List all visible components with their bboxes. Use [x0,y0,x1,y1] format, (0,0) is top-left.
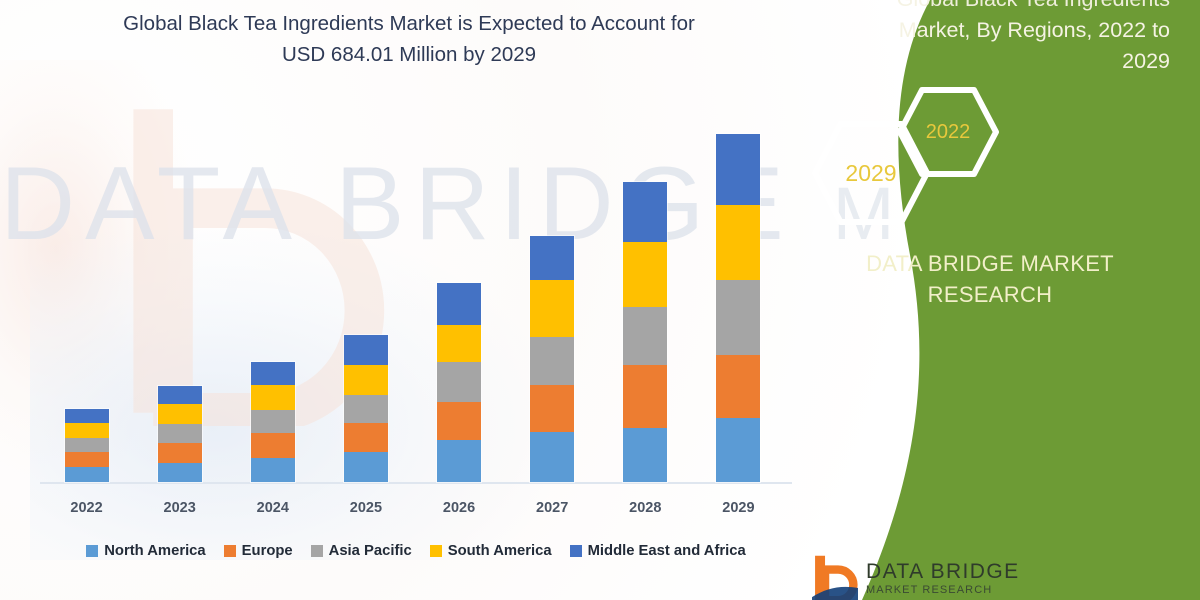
bar-segment[interactable] [158,424,202,443]
bar-segment[interactable] [344,395,388,423]
bar-segment[interactable] [623,182,667,242]
bar-segment[interactable] [251,433,295,458]
x-tick-2029: 2029 [716,500,760,516]
page-title-line2: USD 684.01 Million by 2029 [34,39,784,70]
page-title: Global Black Tea Ingredients Market is E… [34,8,784,70]
chart-baseline [40,482,792,484]
x-tick-2028: 2028 [623,500,667,516]
bar-segment[interactable] [158,463,202,482]
bar-column-2024[interactable] [251,362,295,482]
bar-column-2029[interactable] [716,134,760,482]
bar-column-2028[interactable] [623,182,667,482]
bar-segment[interactable] [530,337,574,385]
bar-column-2027[interactable] [530,236,574,482]
bar-segment[interactable] [716,355,760,418]
bar-segment[interactable] [530,236,574,280]
bar-segment[interactable] [344,365,388,395]
x-tick-2026: 2026 [437,500,481,516]
bar-segment[interactable] [716,134,760,205]
hexagon-front-label: 2022 [896,86,1000,178]
bar-segment[interactable] [716,280,760,355]
legend-swatch-icon [311,545,323,557]
legend-swatch-icon [86,545,98,557]
chart-region: Global Black Tea Ingredients Market is E… [0,0,830,600]
bar-segment[interactable] [623,428,667,482]
bar-segment[interactable] [344,423,388,452]
legend-swatch-icon [570,545,582,557]
panel-brand-line2: RESEARCH [790,279,1190,310]
panel-title-clipped-line: Global Black Tea Ingredients [840,0,1170,15]
data-bridge-logo: DATA BRIDGE MARKET RESEARCH [800,556,1200,600]
legend-label: Asia Pacific [329,543,412,559]
bar-segment[interactable] [65,409,109,423]
hexagon-badge-front: 2022 [896,86,1000,178]
data-bridge-logo-tagline: MARKET RESEARCH [866,584,992,596]
panel-title-line2: 2029 [840,46,1170,77]
x-tick-2027: 2027 [530,500,574,516]
bar-segment[interactable] [65,467,109,482]
legend-item[interactable]: North America [86,543,205,559]
bar-segment[interactable] [623,307,667,365]
legend-swatch-icon [224,545,236,557]
data-bridge-logo-name: DATA BRIDGE [866,560,1019,583]
bar-segment[interactable] [623,242,667,307]
x-tick-2024: 2024 [251,500,295,516]
chart-legend: North AmericaEuropeAsia PacificSouth Ame… [46,538,786,564]
legend-item[interactable]: South America [430,543,552,559]
x-tick-2022: 2022 [65,500,109,516]
bar-group [40,100,785,482]
bar-column-2025[interactable] [344,335,388,482]
green-panel-content: Global Black Tea Ingredients Market, By … [780,0,1200,600]
bar-segment[interactable] [437,362,481,402]
legend-label: North America [104,543,205,559]
bar-segment[interactable] [530,280,574,337]
legend-item[interactable]: Asia Pacific [311,543,412,559]
bar-segment[interactable] [344,335,388,365]
bar-segment[interactable] [251,362,295,385]
x-axis-tick-labels: 20222023202420252026202720282029 [40,495,785,521]
bar-segment[interactable] [158,404,202,424]
bar-segment[interactable] [623,365,667,428]
bar-segment[interactable] [65,452,109,467]
bar-segment[interactable] [251,385,295,410]
plot-area [40,100,785,482]
bar-segment[interactable] [344,452,388,482]
x-tick-2023: 2023 [158,500,202,516]
data-bridge-logo-icon [812,554,858,600]
bar-segment[interactable] [437,325,481,362]
page-title-line1: Global Black Tea Ingredients Market is E… [34,8,784,39]
panel-brand-text: DATA BRIDGE MARKET RESEARCH [790,248,1190,310]
hexagon-badges: 2029 2022 [810,86,1050,226]
bar-segment[interactable] [65,423,109,438]
bar-segment[interactable] [158,443,202,463]
bar-segment[interactable] [716,205,760,280]
bar-column-2022[interactable] [65,409,109,482]
bar-segment[interactable] [251,410,295,433]
bar-segment[interactable] [158,386,202,404]
legend-label: South America [448,543,552,559]
bar-segment[interactable] [437,440,481,482]
legend-label: Middle East and Africa [588,543,746,559]
bar-segment[interactable] [437,402,481,440]
bar-segment[interactable] [530,385,574,432]
panel-title: Global Black Tea Ingredients Market, By … [840,0,1170,77]
bar-segment[interactable] [716,418,760,482]
x-tick-2025: 2025 [344,500,388,516]
legend-item[interactable]: Middle East and Africa [570,543,746,559]
bar-segment[interactable] [251,458,295,482]
legend-item[interactable]: Europe [224,543,293,559]
legend-swatch-icon [430,545,442,557]
bar-segment[interactable] [530,432,574,482]
panel-title-line1: Market, By Regions, 2022 to [840,15,1170,46]
bar-segment[interactable] [65,438,109,452]
panel-brand-line1: DATA BRIDGE MARKET [790,248,1190,279]
legend-label: Europe [242,543,293,559]
infographic-canvas: DATA BRIDGE MARKET RESEARCH Global Black… [0,0,1200,600]
bar-column-2026[interactable] [437,283,481,482]
bar-segment[interactable] [437,283,481,325]
bar-column-2023[interactable] [158,386,202,482]
